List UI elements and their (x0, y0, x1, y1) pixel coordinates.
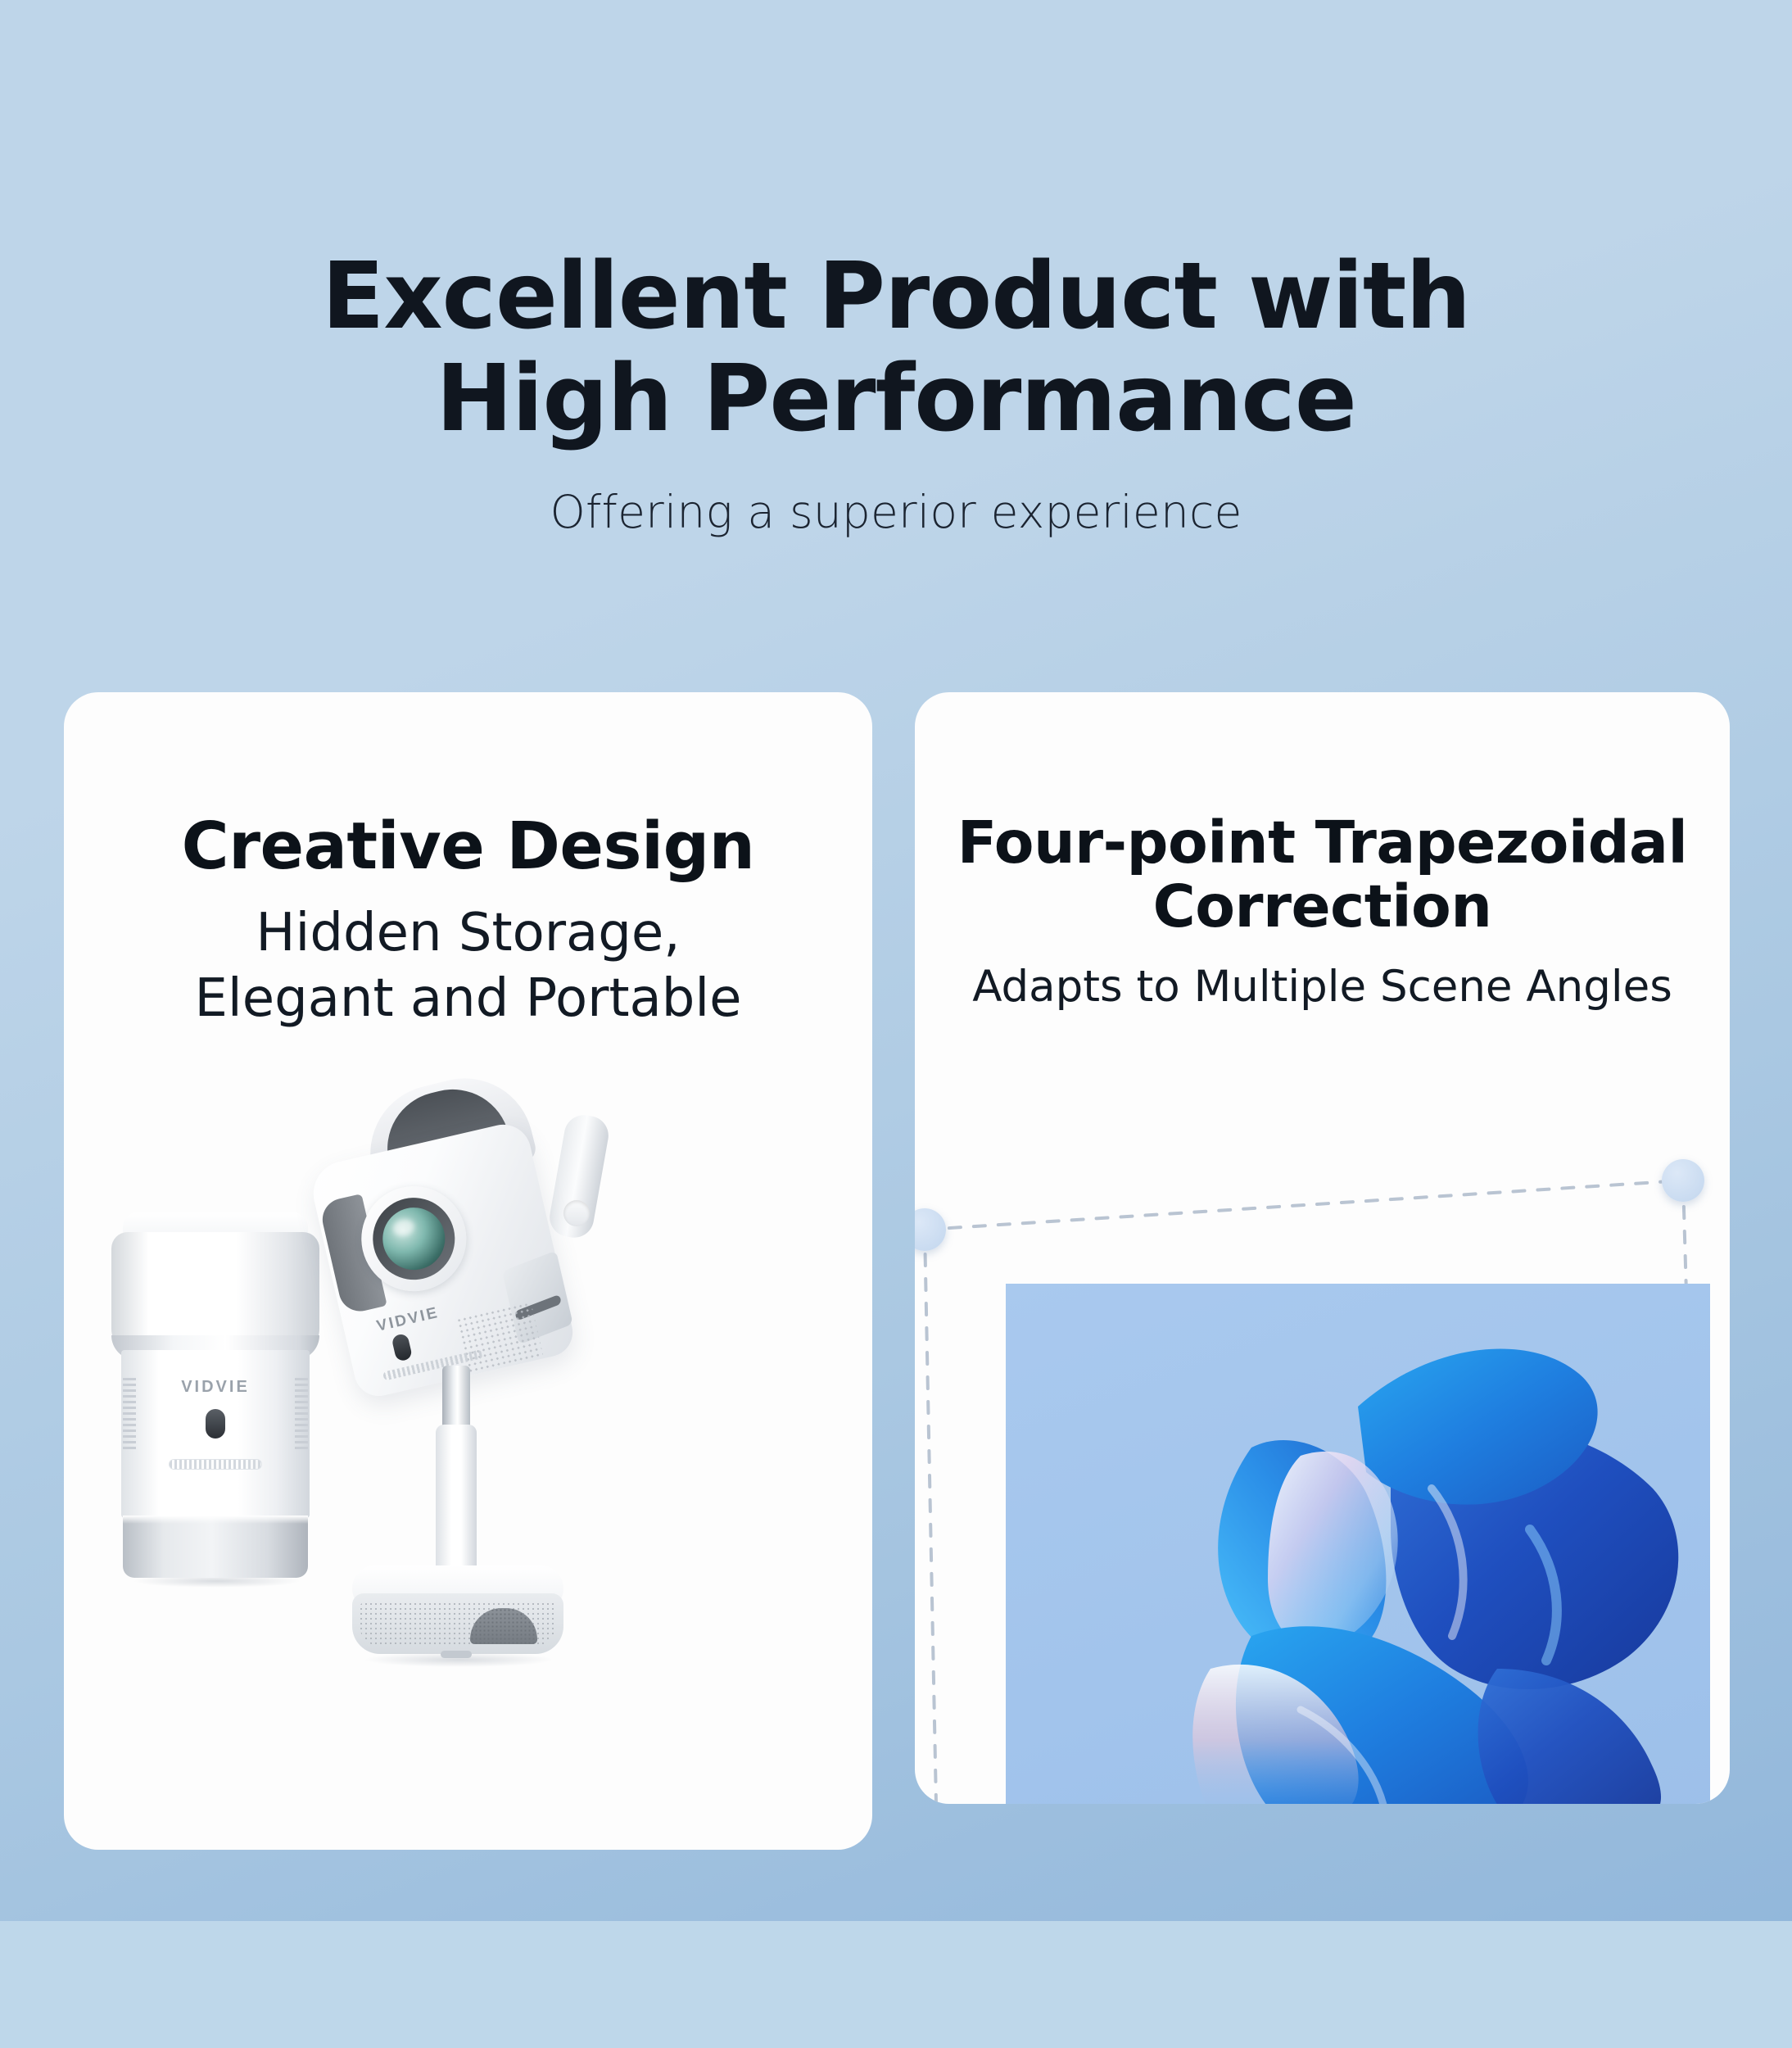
card-title-line-1: Four-point Trapezoidal (926, 811, 1718, 875)
projector-brand-label: VIDVIE (375, 1304, 441, 1336)
projector-hinge-icon (563, 1200, 590, 1226)
storage-case-product-image: VIDVIE (105, 1212, 326, 1581)
projected-screen (1006, 1284, 1710, 1804)
card-title-trapezoidal-correction: Four-point Trapezoidal Correction (915, 811, 1730, 939)
page-subtitle: Offering a superior experience (0, 486, 1792, 538)
keystone-correction-illustration (915, 1112, 1730, 1804)
projector-product-image: VIDVIE (318, 1077, 596, 1815)
card-subtitle-creative-design: Hidden Storage, Elegant and Portable (64, 900, 872, 1031)
projector-speaker-grille (455, 1301, 544, 1375)
projector-stand-column (436, 1425, 477, 1575)
projected-flower-image (1006, 1284, 1710, 1804)
headline-line-1: Excellent Product with (0, 246, 1792, 348)
background-lower-band (0, 1921, 1792, 2048)
storage-case-base-highlight (123, 1516, 308, 1524)
card-subtitle-line-1: Hidden Storage, (64, 900, 872, 966)
storage-case-fine-print (169, 1459, 262, 1470)
storage-case-base-band (123, 1516, 308, 1578)
projector-indicator-icon (391, 1333, 413, 1362)
headline-line-2: High Performance (0, 348, 1792, 451)
card-title-line-2: Correction (926, 875, 1718, 939)
storage-case-sensor-icon (206, 1409, 225, 1439)
card-title-creative-design: Creative Design (64, 811, 872, 882)
card-subtitle-trapezoidal-correction: Adapts to Multiple Scene Angles (915, 960, 1730, 1014)
feature-card-creative-design: Creative Design Hidden Storage, Elegant … (64, 692, 872, 1850)
keystone-corner-handle-top-right[interactable] (1662, 1159, 1704, 1202)
product-photo-group: VIDVIE VIDVIE (64, 1077, 872, 1847)
feature-card-trapezoidal-correction: Four-point Trapezoidal Correction Adapts… (915, 692, 1730, 1804)
page-headline: Excellent Product with High Performance (0, 246, 1792, 451)
page-header: Excellent Product with High Performance … (0, 246, 1792, 538)
storage-case-brand-label: VIDVIE (121, 1378, 310, 1397)
projector-body: VIDVIE (307, 1119, 577, 1401)
storage-case-body: VIDVIE (121, 1350, 310, 1518)
projector-stand-foot (441, 1651, 472, 1658)
card-subtitle-line-2: Elegant and Portable (64, 966, 872, 1031)
